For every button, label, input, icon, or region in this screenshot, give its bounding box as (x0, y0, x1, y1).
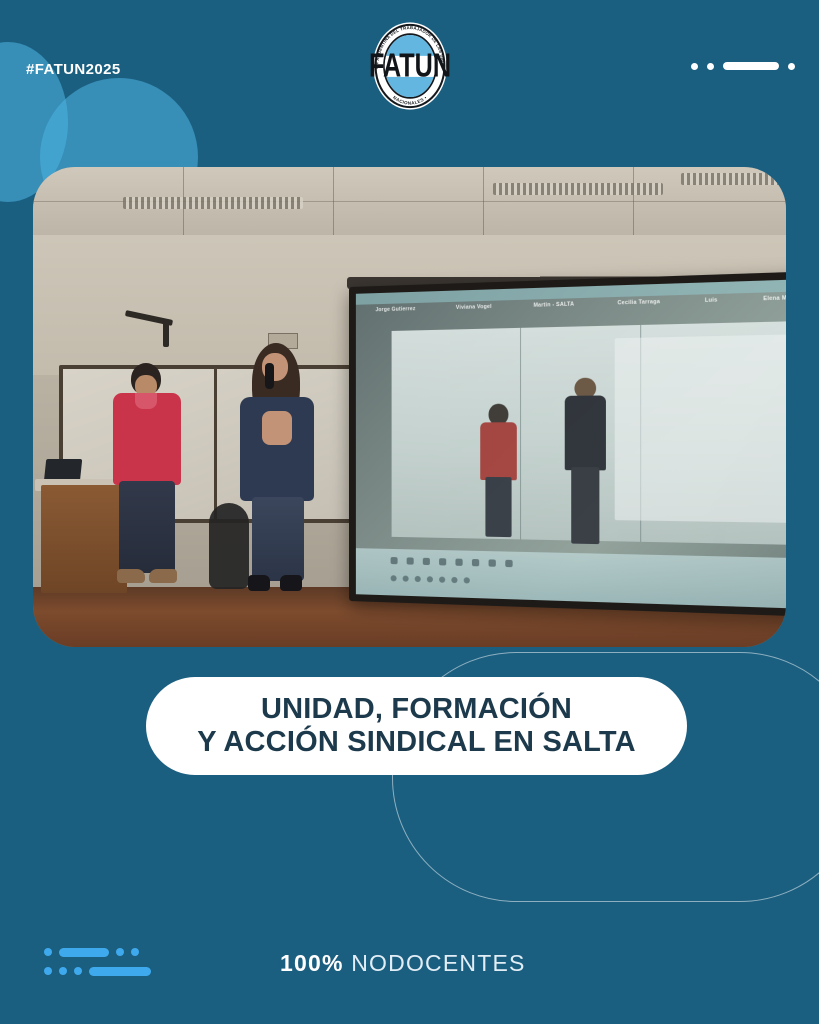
vc-taskbar-icon (464, 577, 470, 583)
fatun-logo-icon: FATUN FEDERACION ARGENTINA DEL TRABAJADO… (368, 19, 452, 113)
footer-percent: 100% (280, 950, 344, 976)
vc-name: Viviana Vogel (456, 304, 492, 311)
title-banner: UNIDAD, FORMACIÓN Y ACCIÓN SINDICAL EN S… (146, 677, 687, 775)
title-line-1: UNIDAD, FORMACIÓN (261, 693, 572, 726)
morse-dash-icon (89, 967, 151, 976)
vc-taskbar-icon (415, 576, 421, 582)
photo-content: Jorge Gutierrez Viviana Vogel Martin - S… (33, 167, 786, 647)
header-morse-decoration (691, 62, 795, 70)
vc-taskbar-icon (451, 577, 457, 583)
vc-taskbar-icon (391, 575, 397, 581)
vc-shared-document (615, 335, 786, 523)
vc-tool-icon (407, 557, 414, 564)
wall-bracket-arm (163, 319, 169, 347)
event-photo: Jorge Gutierrez Viviana Vogel Martin - S… (33, 167, 786, 647)
morse-dot-icon (691, 63, 698, 70)
whiteboard-divider (214, 369, 217, 519)
vc-tool-icon (439, 558, 446, 565)
hashtag-label: #FATUN2025 (26, 61, 121, 78)
morse-dot-icon (116, 948, 124, 956)
vc-tool-icon (489, 559, 496, 566)
footer-morse-row-2 (44, 965, 151, 977)
vc-name: Luis (705, 297, 718, 304)
vc-person-dark (565, 377, 606, 541)
vc-name: Martin - SALTA (533, 301, 574, 308)
morse-dot-icon (788, 63, 795, 70)
vc-taskbar-icons (391, 575, 470, 583)
morse-dot-icon (131, 948, 139, 956)
vc-toolbar-icons (391, 557, 513, 567)
vc-taskbar-icon (439, 577, 445, 583)
vc-taskbar-icon (403, 576, 409, 582)
morse-dot-icon (707, 63, 714, 70)
vc-tool-icon (455, 559, 462, 566)
morse-dot-icon (59, 967, 67, 975)
footer-morse-decoration (44, 946, 151, 984)
morse-dash-icon (59, 948, 109, 957)
videoconference-view: Jorge Gutierrez Viviana Vogel Martin - S… (356, 278, 786, 609)
vc-name: Elena Martinez (763, 295, 786, 303)
projection-screen: Jorge Gutierrez Viviana Vogel Martin - S… (349, 270, 786, 617)
poster-canvas: #FATUN2025 FATUN FEDERACION ARGENTINA DE… (0, 0, 819, 1024)
footer-morse-row-1 (44, 946, 151, 958)
vc-shared-stage (392, 321, 786, 545)
microphone (265, 363, 274, 389)
morse-dot-icon (74, 967, 82, 975)
vc-taskbar-icon (427, 576, 433, 582)
vc-person-red (481, 404, 517, 535)
morse-dash-icon (723, 62, 779, 70)
vc-tool-icon (505, 560, 512, 567)
speaker-man (111, 363, 183, 587)
footer-label: NODOCENTES (351, 950, 525, 976)
title-line-2: Y ACCIÓN SINDICAL EN SALTA (197, 726, 636, 759)
morse-dot-icon (44, 967, 52, 975)
footer-slogan: 100% NODOCENTES (280, 950, 526, 977)
vc-tool-icon (391, 557, 398, 564)
speaker-woman (238, 343, 320, 593)
morse-dot-icon (44, 948, 52, 956)
vc-toolbar (356, 548, 786, 609)
vc-tool-icon (472, 559, 479, 566)
vc-tool-icon (423, 558, 430, 565)
vc-name: Jorge Gutierrez (375, 306, 415, 313)
vc-name: Cecilia Tarraga (617, 299, 660, 307)
